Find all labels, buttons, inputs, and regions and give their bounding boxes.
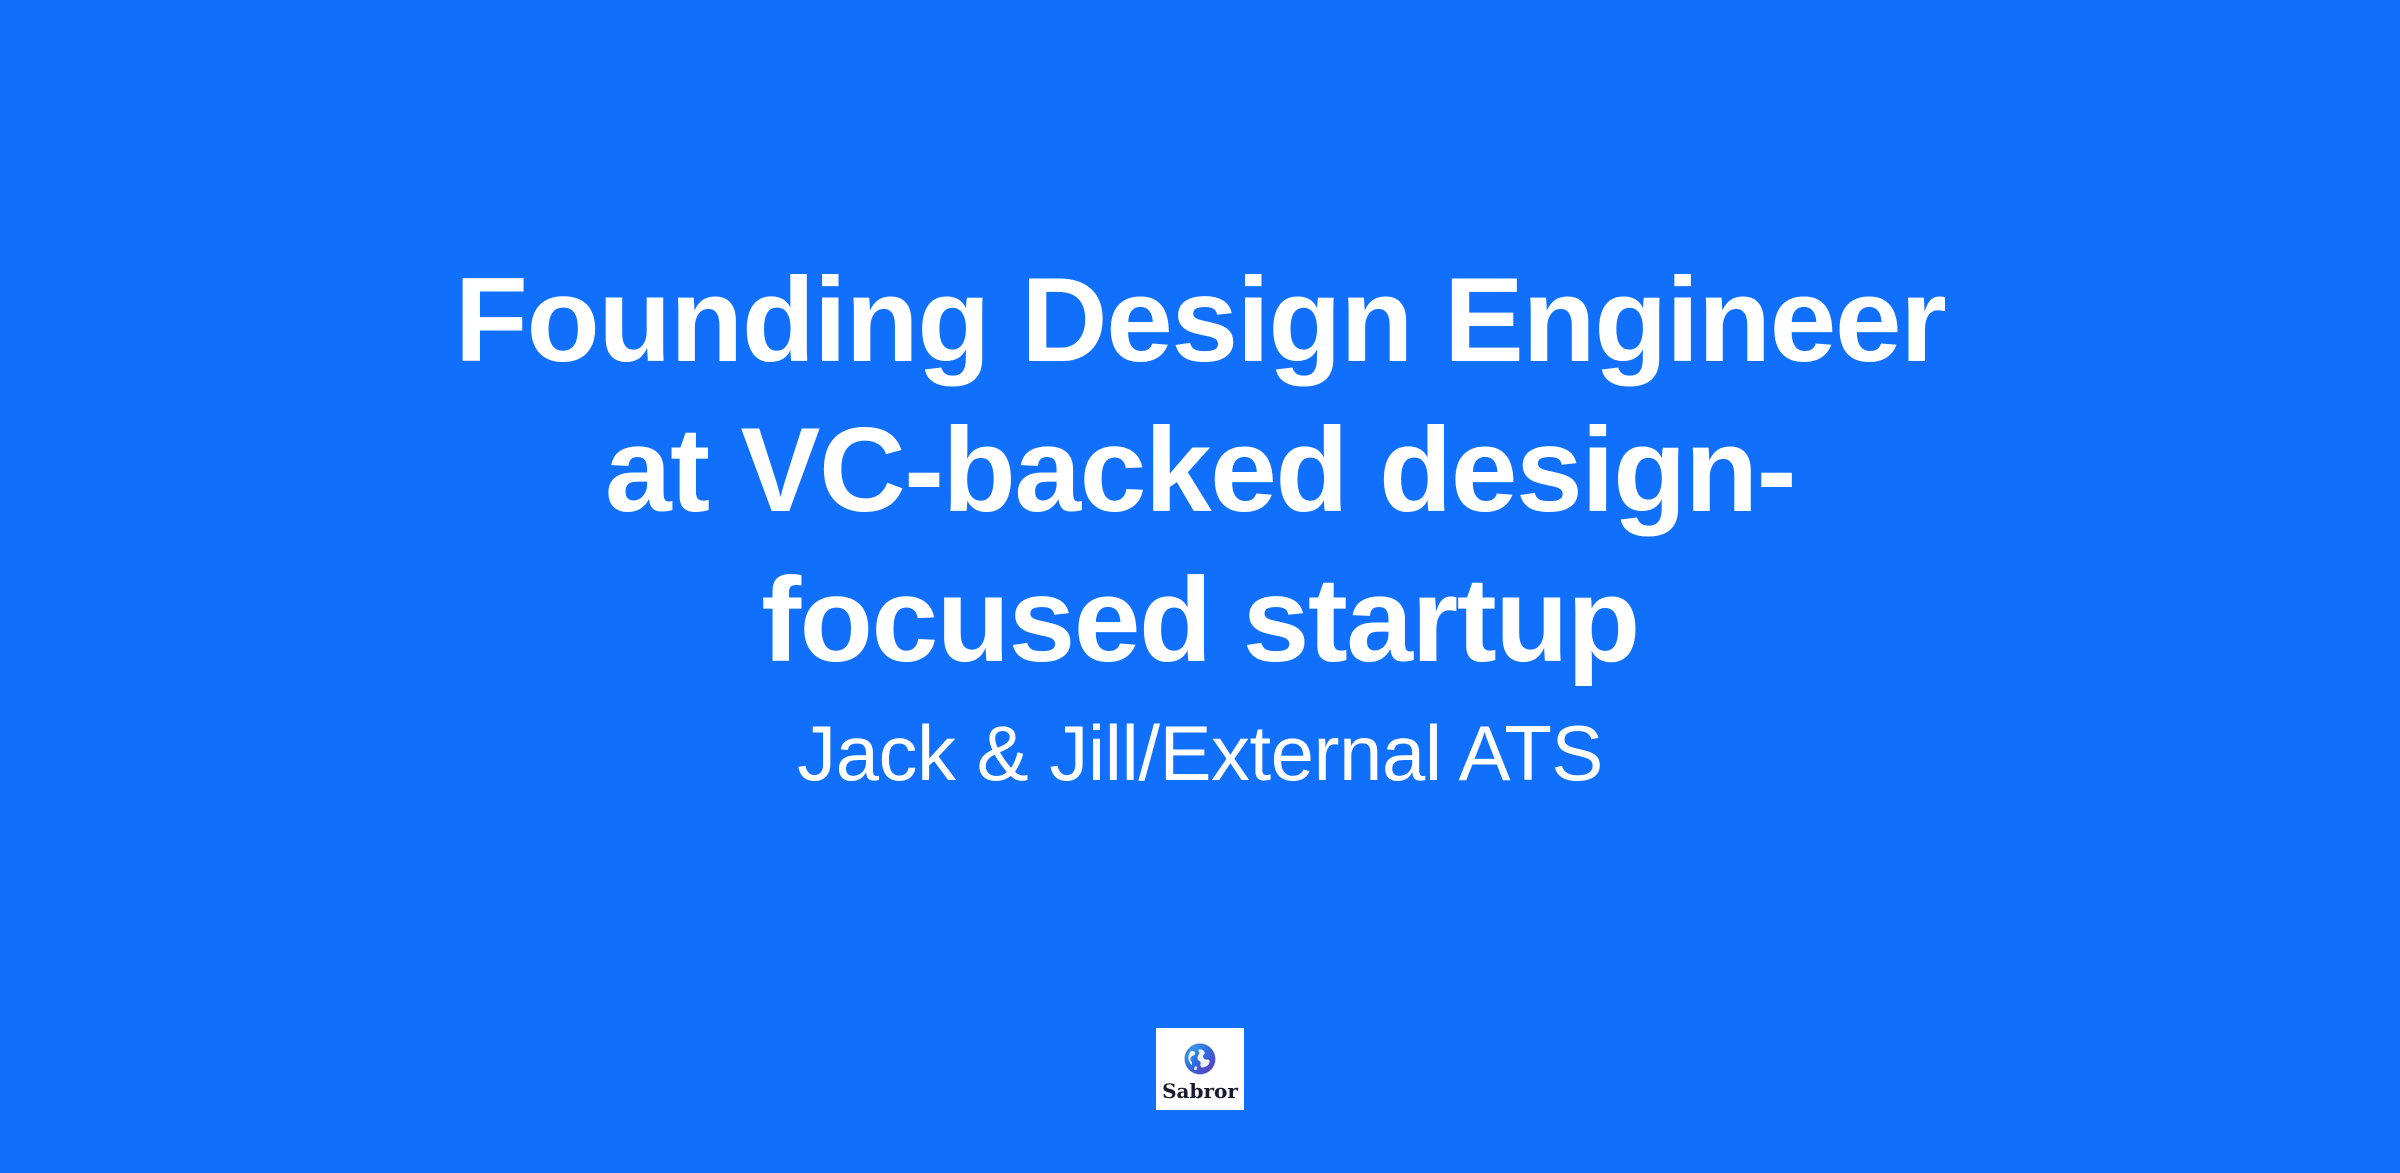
brand-wordmark: Sabror: [1162, 1080, 1238, 1102]
hero-section: Founding Design Engineer at VC-backed de…: [0, 245, 2400, 799]
page-title: Founding Design Engineer at VC-backed de…: [400, 245, 2000, 695]
globe-icon: [1180, 1039, 1220, 1079]
brand-logo-badge: Sabror: [1156, 1028, 1244, 1110]
job-posting-slide: Founding Design Engineer at VC-backed de…: [0, 0, 2400, 1173]
job-subtitle: Jack & Jill/External ATS: [300, 707, 2100, 799]
